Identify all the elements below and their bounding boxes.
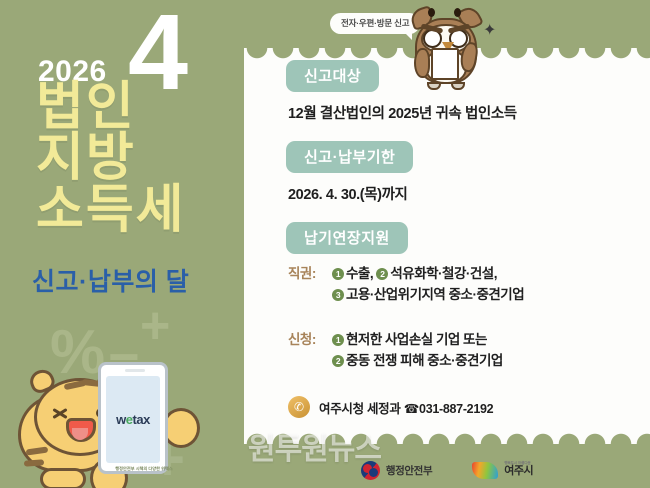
logo-yeoju: 행복도시 아름다운 여주시 <box>472 462 533 479</box>
tablet-caption: 행정안전부 시책의 다양한 위택스 <box>108 466 180 472</box>
spacer <box>244 123 650 141</box>
extension-group-authority: 직권: 1수출, 2석유화학·철강·건설, 3고용·산업위기지역 중소·중견기업 <box>288 264 650 306</box>
extension-item-text: 고용·산업위기지역 중소·중견기업 <box>346 287 524 302</box>
extension-item-text: 현저한 사업손실 기업 또는 <box>346 332 487 347</box>
sparkle-icon: ✦ <box>483 24 497 38</box>
spacer <box>244 306 650 320</box>
page-title-line-2: 지방 <box>36 133 186 184</box>
yeoju-icon <box>472 462 498 479</box>
spacer <box>244 204 650 222</box>
page-title: 법인 지방 소득세 <box>36 82 186 236</box>
section-badge-extension-support: 납기연장지원 <box>286 222 408 254</box>
logo-mois-label: 행정안전부 <box>386 463 432 478</box>
info-card: 전자·우편·방문 신고 ✦ 신고대상 12월 결산법인의 2025년 <box>244 0 650 488</box>
extension-row: 신청: 1현저한 사업손실 기업 또는 <box>288 330 650 351</box>
tablet-device: wetax <box>98 362 168 474</box>
extension-row: 3고용·산업위기지역 중소·중견기업 <box>332 285 650 306</box>
extension-item-text: 중동 전쟁 피해 중소·중견기업 <box>346 353 503 368</box>
tablet-screen: wetax <box>106 376 160 463</box>
list-number-icon: 2 <box>376 268 388 280</box>
left-title-panel: % − + + 2026 4 법인 지방 소득세 신고·납부의 달 <box>0 0 244 488</box>
footer-logos: 행정안전부 행복도시 아름다운 여주시 <box>244 452 650 488</box>
poster-root: % − + + 2026 4 법인 지방 소득세 신고·납부의 달 <box>0 0 650 488</box>
tablet-speaker <box>125 369 145 372</box>
wetax-logo: wetax <box>116 412 150 427</box>
plus-symbol-decor: + <box>140 300 170 352</box>
card-scallop-bottom <box>244 424 650 444</box>
extension-key-application: 신청: <box>288 330 328 351</box>
contact-phone-number: 031-887-2192 <box>419 402 493 416</box>
contact-text: 여주시청 세정과 ☎031-887-2192 <box>319 398 493 417</box>
list-number-icon: 3 <box>332 289 344 301</box>
deadline-text: 2026. 4. 30.(목)까지 <box>288 183 650 204</box>
telephone-icon: ☎ <box>404 402 419 416</box>
list-number-icon: 1 <box>332 334 344 346</box>
card-content: 신고대상 12월 결산법인의 2025년 귀속 법인소득 신고·납부기한 202… <box>244 60 650 372</box>
logo-yeoju-label: 여주시 <box>504 466 533 478</box>
contact-office: 여주시청 세정과 <box>319 402 401 416</box>
section-badge-deadline: 신고·납부기한 <box>286 141 413 173</box>
page-title-line-3: 소득세 <box>36 185 186 236</box>
extension-row: 2중동 전쟁 피해 중소·중견기업 <box>332 351 650 372</box>
report-target-text: 12월 결산법인의 2025년 귀속 법인소득 <box>288 102 650 123</box>
section-badge-report-target: 신고대상 <box>286 60 379 92</box>
phone-icon: ✆ <box>288 396 310 418</box>
extension-line: 1현저한 사업손실 기업 또는 <box>332 330 487 351</box>
extension-item-text: 석유화학·철강·건설, <box>390 266 497 281</box>
owl-pupil-left <box>428 8 435 17</box>
extension-item-text: 수출, <box>346 266 373 281</box>
cat-foot <box>40 468 86 488</box>
extension-line: 1수출, 2석유화학·철강·건설, <box>332 264 497 285</box>
extension-group-application: 신청: 1현저한 사업손실 기업 또는 2중동 전쟁 피해 중소·중견기업 <box>288 330 650 372</box>
page-title-line-1: 법인 <box>36 82 186 133</box>
contact-row: ✆ 여주시청 세정과 ☎031-887-2192 <box>288 396 493 418</box>
extension-key-authority: 직권: <box>288 264 328 285</box>
owl-pupil-right <box>454 8 461 17</box>
list-number-icon: 1 <box>332 268 344 280</box>
logo-yeoju-text: 행복도시 아름다운 여주시 <box>504 462 533 477</box>
taegeuk-icon <box>361 461 380 480</box>
list-number-icon: 2 <box>332 355 344 367</box>
extension-row: 직권: 1수출, 2석유화학·철강·건설, <box>288 264 650 285</box>
logo-mois: 행정안전부 <box>361 461 432 480</box>
cat-eye-closed-left <box>52 406 68 420</box>
page-subtitle: 신고·납부의 달 <box>32 262 189 298</box>
